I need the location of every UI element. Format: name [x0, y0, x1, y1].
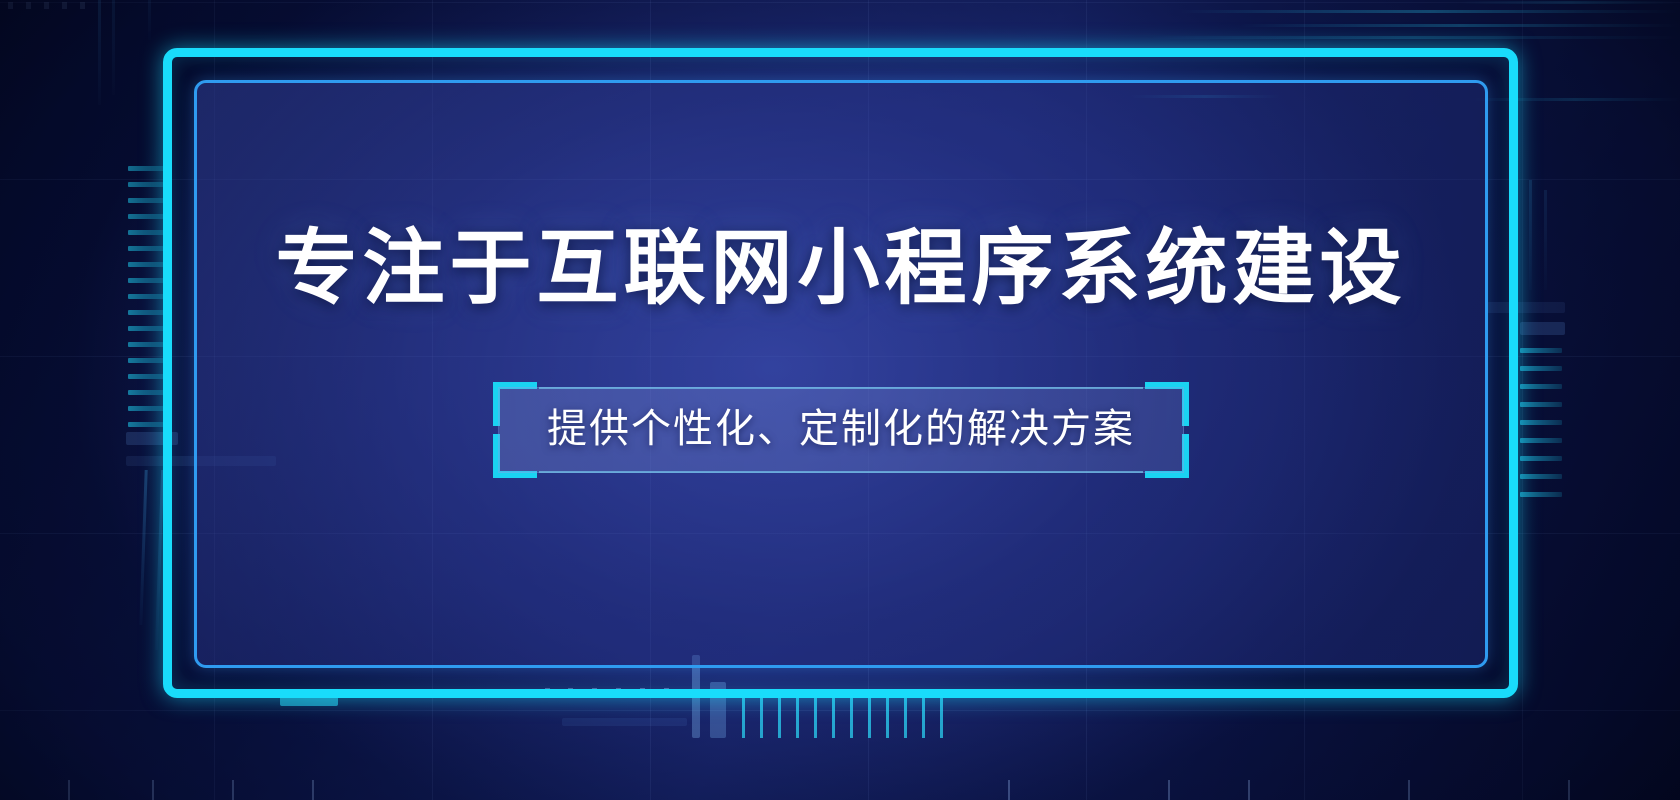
vertical-line: [1529, 180, 1532, 290]
cyan-bar: [760, 696, 763, 738]
ruler-tick: [1520, 384, 1562, 389]
subtitle-panel: 提供个性化、定制化的解决方案: [498, 387, 1184, 473]
dot-mark: [62, 2, 67, 9]
ruler-tick: [128, 358, 166, 363]
streak-line: [1460, 1, 1680, 4]
subtitle-rule-top: [539, 387, 1143, 389]
cyan-bar: [742, 696, 745, 738]
cyan-bar: [832, 696, 835, 738]
ruler-tick: [1520, 366, 1562, 371]
bottom-tick: [152, 780, 154, 800]
page-title: 专注于互联网小程序系统建设: [275, 223, 1406, 315]
ruler-tick: [128, 246, 166, 251]
cyan-bar: [796, 696, 799, 738]
streak-line: [1240, 24, 1680, 27]
dot-mark: [26, 2, 31, 9]
streak-line: [1180, 10, 1680, 13]
bottom-tick: [1248, 780, 1250, 800]
ruler-tick: [128, 326, 166, 331]
streak-line: [1150, 36, 1680, 39]
ruler-tick: [1520, 456, 1562, 461]
ruler-tick: [128, 294, 166, 299]
ruler-tick: [128, 278, 166, 283]
bottom-tick: [1168, 780, 1170, 800]
cyan-bar: [922, 696, 925, 738]
bottom-tick: [1408, 780, 1410, 800]
cyan-bar: [940, 696, 943, 738]
subtitle-rule-bottom: [539, 471, 1143, 473]
bottom-tick: [68, 780, 70, 800]
cyan-bar: [904, 696, 907, 738]
cyan-bar: [886, 696, 889, 738]
dot-mark: [8, 2, 13, 9]
bottom-tick: [1568, 780, 1570, 800]
vertical-line: [148, 0, 151, 40]
slab-bar: [1520, 322, 1565, 335]
bottom-tick: [232, 780, 234, 800]
ruler-tick: [128, 406, 166, 411]
ruler-tick: [128, 422, 166, 427]
ruler-tick: [128, 230, 166, 235]
vertical-line: [139, 470, 147, 625]
banner-stage: 专注于互联网小程序系统建设 提供个性化、定制化的解决方案: [0, 0, 1680, 800]
ruler-tick: [1520, 402, 1562, 407]
ruler-tick: [1520, 438, 1562, 443]
ruler-tick: [128, 390, 166, 395]
cyan-bar: [814, 696, 817, 738]
ruler-tick: [128, 214, 166, 219]
vertical-line: [112, 0, 115, 95]
slab-bar: [562, 718, 687, 726]
ruler-tick: [1520, 348, 1562, 353]
ruler-tick: [128, 182, 166, 187]
ruler-tick: [128, 262, 166, 267]
cyan-bar: [778, 696, 781, 738]
ruler-tick: [1520, 474, 1562, 479]
ruler-tick: [128, 374, 166, 379]
cyan-bar: [850, 696, 853, 738]
vertical-line: [98, 0, 101, 105]
ruler-tick: [128, 310, 166, 315]
subtitle-bracket-box: 提供个性化、定制化的解决方案: [498, 387, 1184, 473]
ruler-tick: [1520, 492, 1562, 497]
ruler-tick: [128, 198, 166, 203]
banner-content: 专注于互联网小程序系统建设 提供个性化、定制化的解决方案: [194, 80, 1488, 668]
page-subtitle: 提供个性化、定制化的解决方案: [547, 405, 1135, 453]
bottom-tick: [312, 780, 314, 800]
cyan-bar: [868, 696, 871, 738]
ruler-tick: [128, 342, 166, 347]
ruler-tick: [128, 166, 166, 171]
ruler-tick: [1520, 420, 1562, 425]
dot-mark: [80, 2, 85, 9]
vertical-line: [1544, 190, 1547, 290]
dot-mark: [44, 2, 49, 9]
bottom-tick: [1008, 780, 1010, 800]
